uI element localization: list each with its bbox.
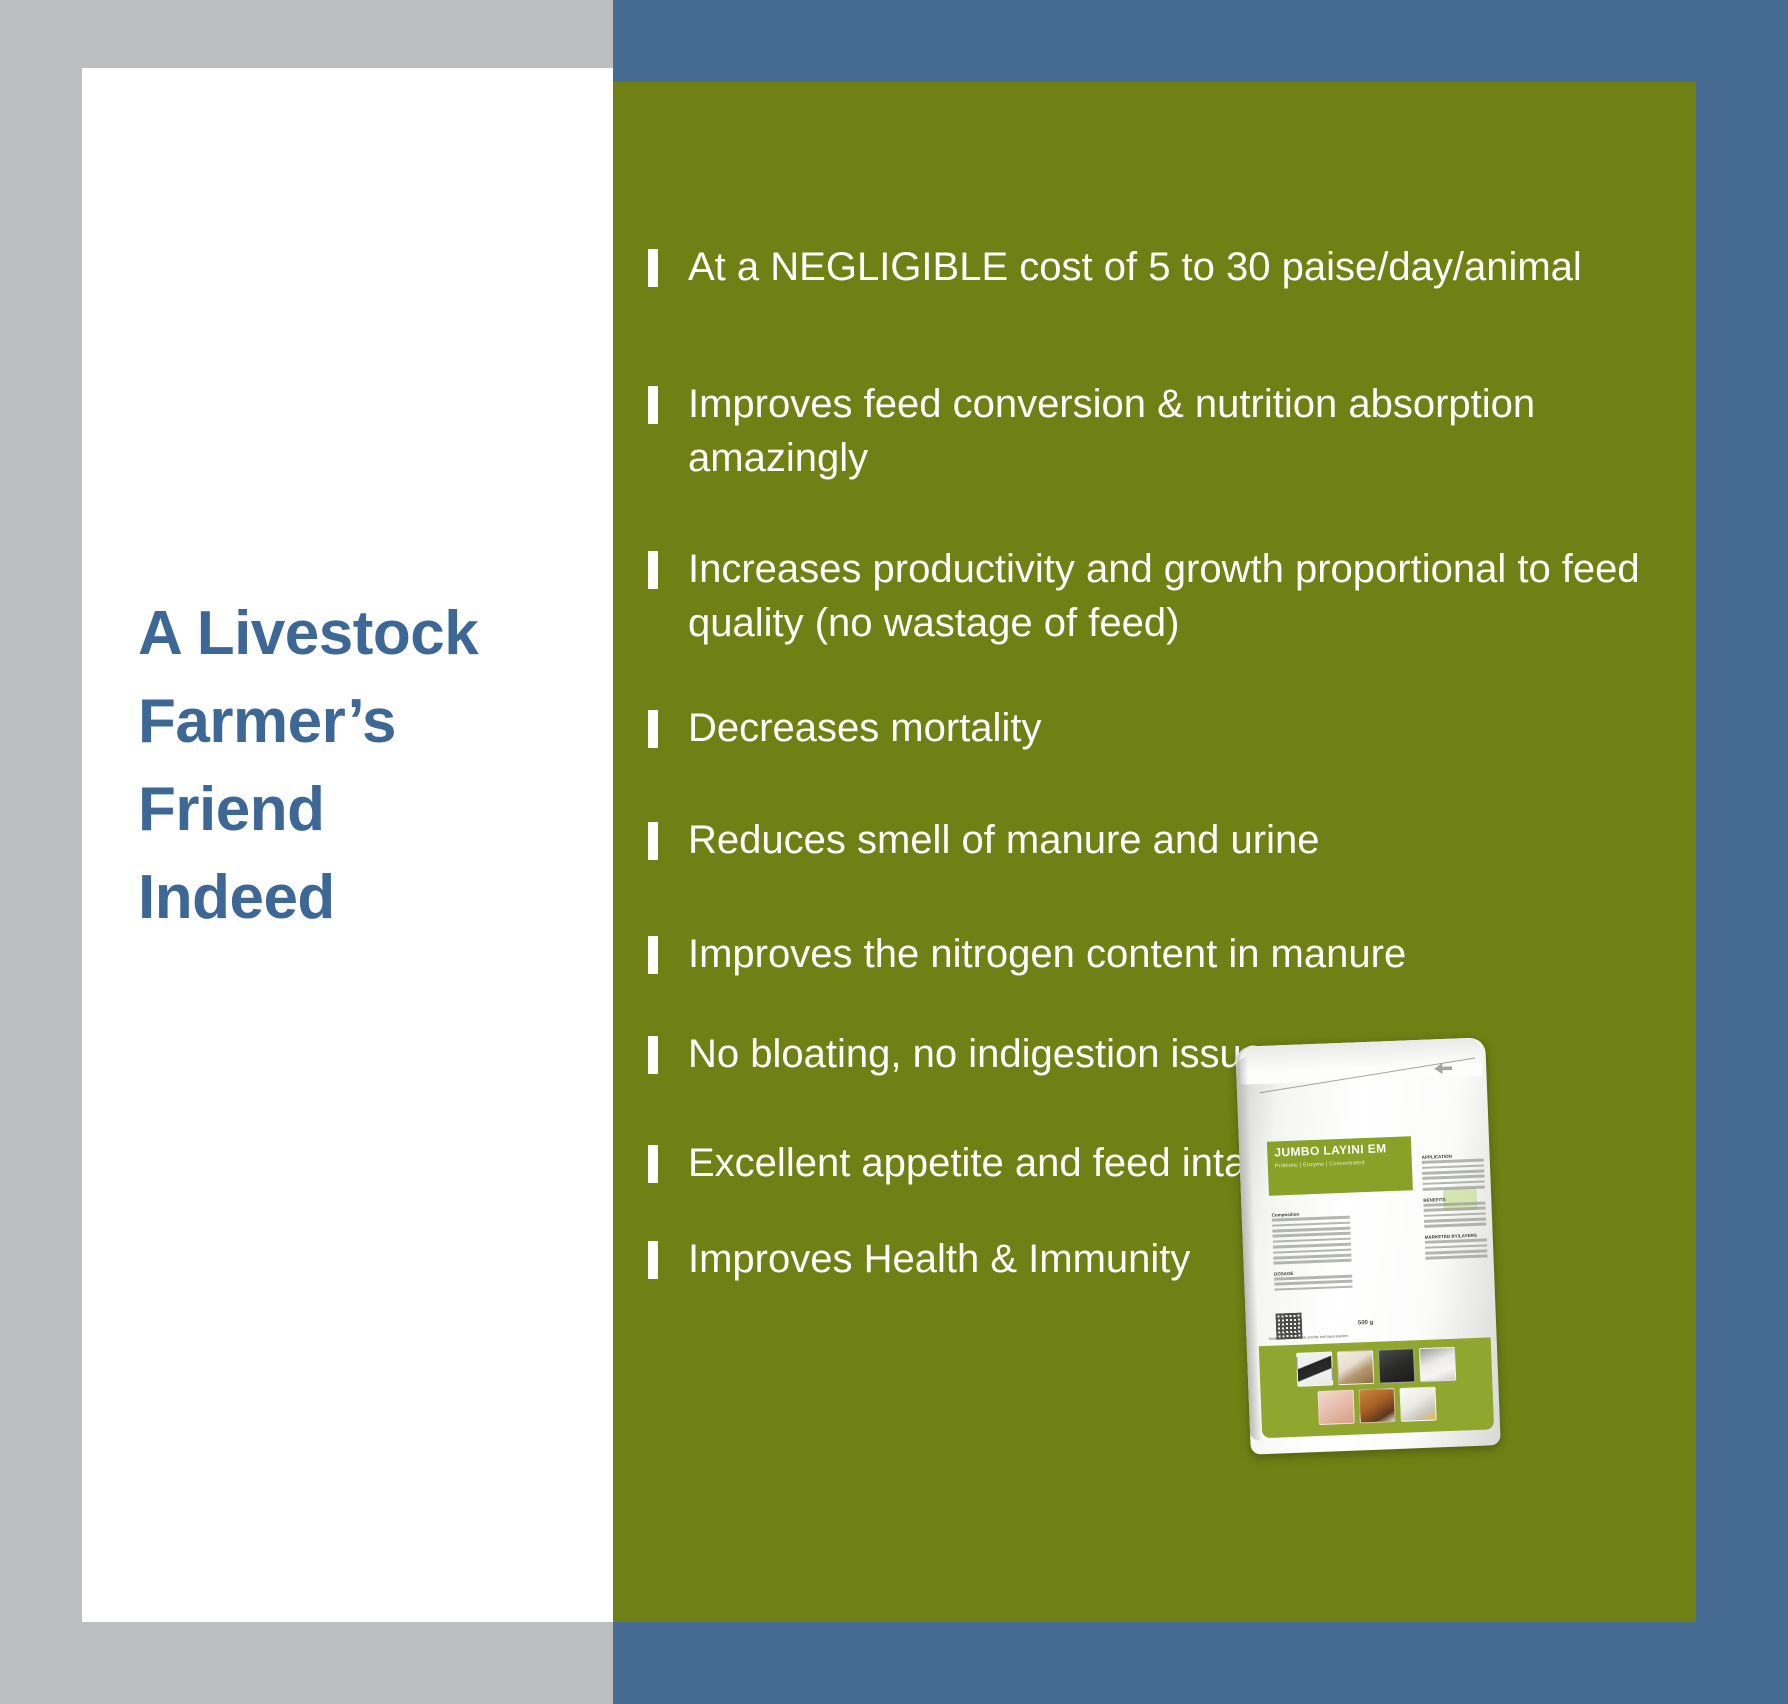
bullet-bar-icon bbox=[648, 249, 658, 287]
list-item: Improves feed conversion & nutrition abs… bbox=[648, 377, 1688, 485]
label-application-block: APPLICATION BENEFITS MARKETED BY/LAYERS bbox=[1421, 1146, 1487, 1263]
title-line-3: Friend bbox=[138, 766, 608, 854]
list-item-label: Increases productivity and growth propor… bbox=[688, 542, 1688, 650]
slide-canvas: A Livestock Farmer’s Friend Indeed At a … bbox=[0, 0, 1788, 1704]
product-brand-name: JUMBO LAYINI EM bbox=[1274, 1142, 1404, 1161]
buffalo-photo-icon bbox=[1377, 1348, 1414, 1383]
list-item-label: Improves Health & Immunity bbox=[688, 1232, 1688, 1286]
bullet-bar-icon bbox=[648, 1241, 658, 1279]
text-line bbox=[1422, 1169, 1484, 1174]
rabbit-photo-icon bbox=[1418, 1347, 1455, 1382]
bullet-bar-icon bbox=[648, 551, 658, 589]
label-composition-block: Composition DOSAGE bbox=[1271, 1203, 1352, 1294]
list-item: Improves the nitrogen content in manure bbox=[648, 927, 1688, 981]
goat-photo-icon bbox=[1337, 1350, 1374, 1385]
text-line bbox=[1274, 1280, 1352, 1286]
list-item: Increases productivity and growth propor… bbox=[648, 542, 1688, 650]
text-line bbox=[1422, 1175, 1484, 1180]
text-line bbox=[1273, 1243, 1351, 1249]
text-line bbox=[1274, 1259, 1352, 1265]
title-line-4: Indeed bbox=[138, 854, 608, 942]
list-item: Decreases mortality bbox=[648, 701, 1688, 755]
hen-photo-icon bbox=[1359, 1388, 1396, 1423]
list-item-label: Improves feed conversion & nutrition abs… bbox=[688, 377, 1688, 485]
bullet-bar-icon bbox=[648, 710, 658, 748]
duck-photo-icon bbox=[1399, 1387, 1436, 1422]
text-line bbox=[1423, 1186, 1485, 1191]
list-item: Reduces smell of manure and urine bbox=[648, 813, 1688, 867]
text-line bbox=[1423, 1180, 1485, 1185]
list-item: Improves Health & Immunity bbox=[648, 1232, 1688, 1286]
bullet-bar-icon bbox=[648, 936, 658, 974]
list-item: Excellent appetite and feed intake bbox=[648, 1136, 1688, 1190]
text-line bbox=[1273, 1232, 1351, 1238]
animal-row-bottom bbox=[1267, 1385, 1488, 1427]
animal-photo-strip: Suitable for all livestock, poultry and … bbox=[1259, 1337, 1494, 1438]
list-item-label: At a NEGLIGIBLE cost of 5 to 30 paise/da… bbox=[688, 240, 1688, 294]
list-item-label: Reduces smell of manure and urine bbox=[688, 813, 1688, 867]
title-line-1: A Livestock bbox=[138, 590, 608, 678]
product-package-image: JUMBO LAYINI EM Probiotic | Enzyme | Con… bbox=[1235, 1037, 1500, 1454]
text-line bbox=[1424, 1212, 1486, 1217]
text-line bbox=[1273, 1248, 1351, 1254]
list-item-label: No bloating, no indigestion issues bbox=[688, 1027, 1688, 1081]
page-title: A Livestock Farmer’s Friend Indeed bbox=[138, 590, 608, 942]
list-item-label: Improves the nitrogen content in manure bbox=[688, 927, 1688, 981]
title-line-2: Farmer’s bbox=[138, 678, 608, 766]
product-brand-chip: JUMBO LAYINI EM Probiotic | Enzyme | Con… bbox=[1267, 1136, 1413, 1195]
animal-row-top bbox=[1265, 1346, 1486, 1388]
benefits-bullet-list: At a NEGLIGIBLE cost of 5 to 30 paise/da… bbox=[648, 240, 1688, 1286]
text-line bbox=[1275, 1285, 1353, 1291]
bullet-bar-icon bbox=[648, 822, 658, 860]
list-item-label: Excellent appetite and feed intake bbox=[688, 1136, 1688, 1190]
list-item-label: Decreases mortality bbox=[688, 701, 1688, 755]
text-line bbox=[1424, 1223, 1486, 1228]
product-brand-subtitle: Probiotic | Enzyme | Concentrated bbox=[1275, 1158, 1405, 1169]
list-item: No bloating, no indigestion issues bbox=[648, 1027, 1688, 1081]
text-line bbox=[1422, 1164, 1484, 1169]
bullet-bar-icon bbox=[648, 1145, 658, 1183]
list-item: At a NEGLIGIBLE cost of 5 to 30 paise/da… bbox=[648, 240, 1688, 294]
cow-photo-icon bbox=[1296, 1351, 1333, 1386]
text-line bbox=[1273, 1237, 1351, 1243]
bullet-bar-icon bbox=[648, 386, 658, 424]
text-line bbox=[1273, 1254, 1351, 1260]
bullet-bar-icon bbox=[648, 1036, 658, 1074]
text-line bbox=[1425, 1244, 1487, 1249]
text-line bbox=[1424, 1218, 1486, 1223]
text-line bbox=[1272, 1221, 1350, 1227]
text-line bbox=[1424, 1207, 1486, 1212]
product-net-weight: 500 g bbox=[1358, 1320, 1374, 1327]
pig-photo-icon bbox=[1318, 1390, 1355, 1425]
text-line bbox=[1425, 1255, 1487, 1260]
text-line bbox=[1272, 1227, 1350, 1233]
text-line bbox=[1425, 1249, 1487, 1254]
